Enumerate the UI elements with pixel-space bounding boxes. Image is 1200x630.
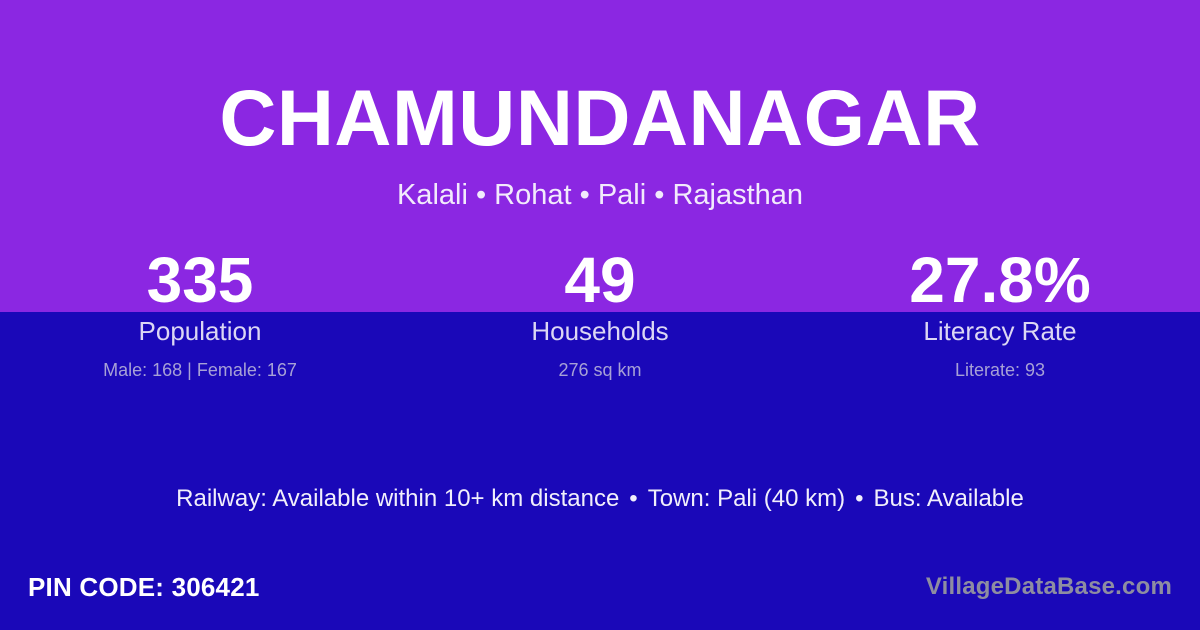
stat-population-label: Population — [0, 318, 400, 344]
stat-population: 335 Population Male: 168 | Female: 167 — [0, 248, 400, 379]
stat-households-value: 49 — [400, 248, 800, 312]
infra-separator-1: • — [619, 487, 647, 511]
infra-railway: Railway: Available within 10+ km distanc… — [176, 485, 619, 512]
infra-bus: Bus: Available — [874, 485, 1024, 512]
stat-population-value: 335 — [0, 248, 400, 312]
infra-town: Town: Pali (40 km) — [648, 485, 845, 512]
stat-households: 49 Households 276 sq km — [400, 248, 800, 379]
stat-literacy-rate-sub: Literate: 93 — [800, 361, 1200, 379]
card-footer: PIN CODE: 306421 VillageDataBase.com — [0, 554, 1200, 630]
infrastructure-row: Railway: Available within 10+ km distanc… — [0, 487, 1200, 511]
brand-watermark: VillageDataBase.com — [926, 575, 1172, 599]
stat-literacy-rate-value: 27.8% — [800, 248, 1200, 312]
stats-row: 335 Population Male: 168 | Female: 167 4… — [0, 248, 1200, 379]
pin-code: PIN CODE: 306421 — [28, 574, 260, 600]
infra-separator-2: • — [845, 487, 873, 511]
stat-households-sub: 276 sq km — [400, 361, 800, 379]
stat-literacy-rate: 27.8% Literacy Rate Literate: 93 — [800, 248, 1200, 379]
page-title: CHAMUNDANAGAR — [0, 78, 1200, 157]
breadcrumb: Kalali • Rohat • Pali • Rajasthan — [0, 181, 1200, 210]
village-info-card: CHAMUNDANAGAR Kalali • Rohat • Pali • Ra… — [0, 0, 1200, 630]
stat-literacy-rate-label: Literacy Rate — [800, 318, 1200, 344]
card-header: CHAMUNDANAGAR Kalali • Rohat • Pali • Ra… — [0, 0, 1200, 210]
stat-population-sub: Male: 168 | Female: 167 — [0, 361, 400, 379]
stat-households-label: Households — [400, 318, 800, 344]
